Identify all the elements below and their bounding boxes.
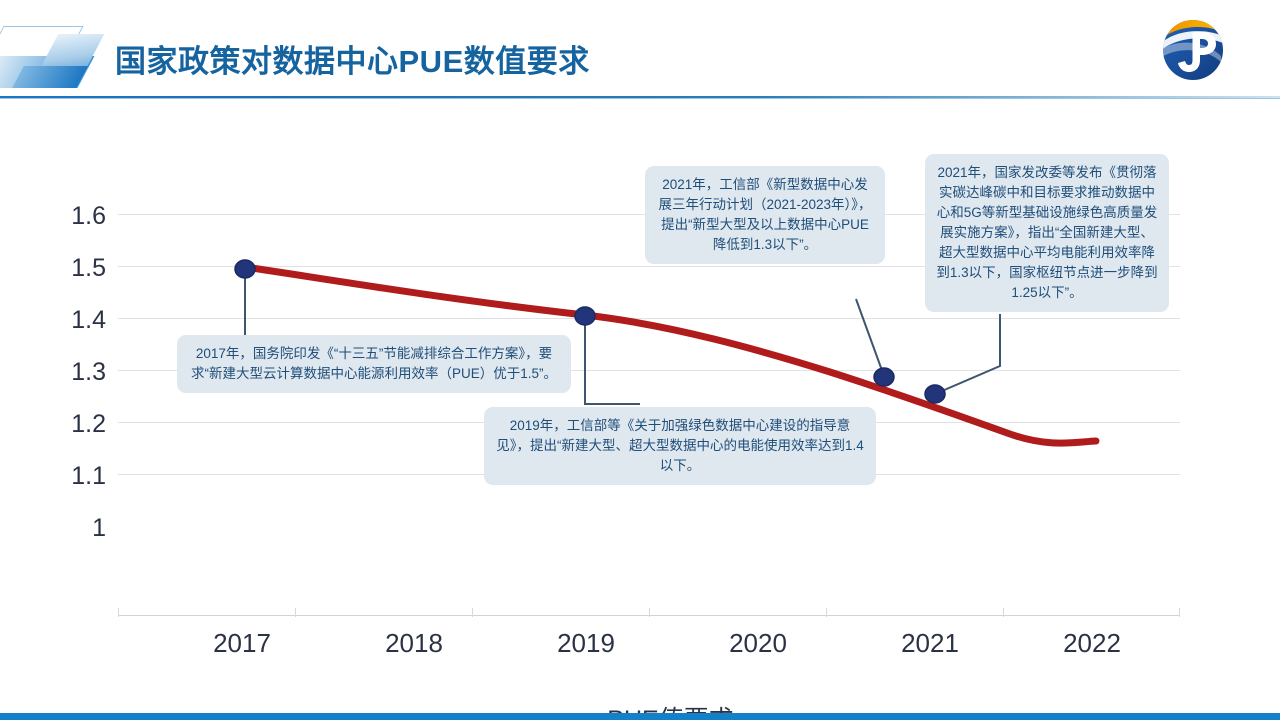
company-logo <box>1159 16 1227 84</box>
header-decoration-accent <box>12 66 88 88</box>
company-logo-icon <box>1159 16 1227 84</box>
page-title: 国家政策对数据中心PUE数值要求 <box>115 36 590 81</box>
annotation-note-2021-ndrc: 2021年，国家发改委等发布《贯彻落实碳达峰碳中和目标要求推动数据中心和5G等新… <box>925 154 1169 312</box>
footer-bar <box>0 713 1280 720</box>
leader-line-note-2021-ndrc <box>935 314 1000 394</box>
data-point-2017 <box>235 260 255 278</box>
leader-line-note-2017 <box>245 274 305 336</box>
header-divider-secondary <box>0 98 1280 99</box>
data-point-2021 <box>925 385 945 403</box>
slide-canvas: 国家政策对数据中心PUE数值要求 <box>0 0 1280 720</box>
leader-line-note-2019 <box>585 322 640 404</box>
annotation-note-2019: 2019年，工信部等《关于加强绿色数据中心建设的指导意见》，提出“新建大型、超大… <box>484 407 876 485</box>
data-point-2019 <box>575 307 595 325</box>
leader-line-note-2021-miit <box>856 299 884 376</box>
pue-line-chart: 1.6 1.5 1.4 1.3 1.2 1.1 1 2017 2018 2019 <box>0 104 1280 710</box>
annotation-note-2021-miit: 2021年，工信部《新型数据中心发展三年行动计划（2021-2023年）》，提出… <box>645 166 885 264</box>
annotation-note-2017: 2017年，国务院印发《“十三五”节能减排综合工作方案》，要求“新建大型云计算数… <box>177 335 571 393</box>
slide-header: 国家政策对数据中心PUE数值要求 <box>0 0 1280 100</box>
data-point-2020-7 <box>874 368 894 386</box>
